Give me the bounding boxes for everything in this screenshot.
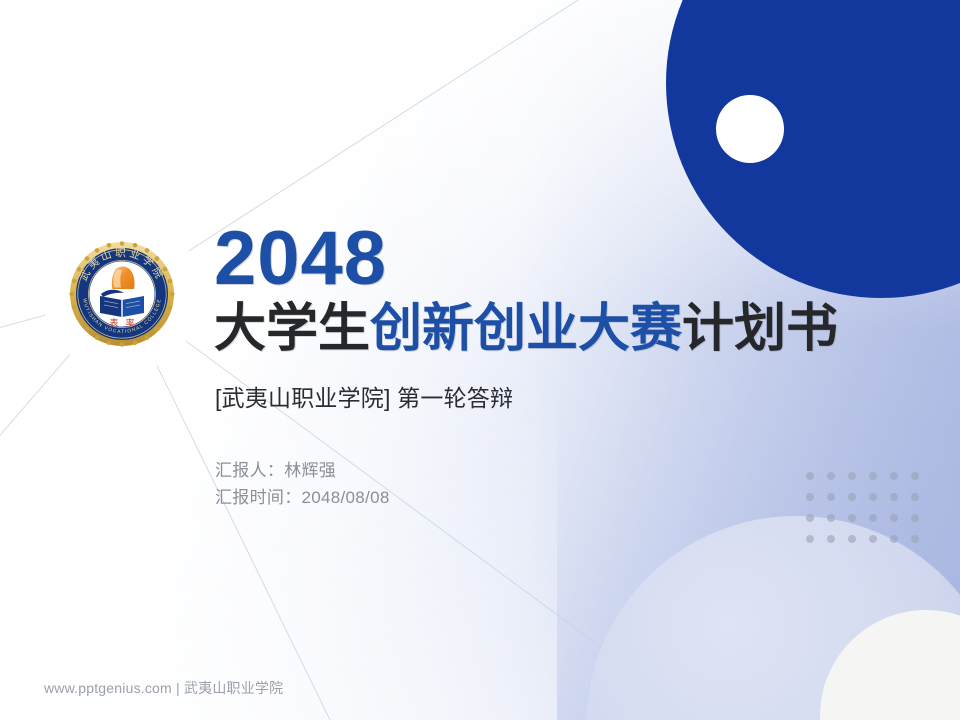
grid-dot xyxy=(806,514,814,522)
main-headline: 大学生创新创业大赛计划书 xyxy=(214,300,914,358)
grid-dot xyxy=(848,535,856,543)
grid-dot xyxy=(890,535,898,543)
presenter-line: 汇报人：林辉强 xyxy=(215,457,914,485)
grid-dot xyxy=(827,514,835,522)
presentation-meta: 汇报人：林辉强 汇报时间：2048/08/08 xyxy=(215,457,914,512)
headline-part-1: 大学生 xyxy=(214,300,370,358)
title-block: 2048 大学生创新创业大赛计划书 [武夷山职业学院] 第一轮答辩 汇报人：林辉… xyxy=(214,222,914,512)
grid-dot xyxy=(911,535,919,543)
grid-dot xyxy=(806,535,814,543)
college-seal-icon: 武夷山职业学院 WUYISHAN VOCATIONAL COLLEGE 表 率 xyxy=(68,240,176,348)
grid-dot xyxy=(848,514,856,522)
svg-text:表: 表 xyxy=(109,317,118,328)
grid-dot xyxy=(869,535,877,543)
grid-dot xyxy=(911,514,919,522)
grid-dot xyxy=(869,514,877,522)
white-accent-circle xyxy=(716,95,784,163)
headline-part-3: 计划书 xyxy=(682,300,838,358)
footer-text: www.pptgenius.com | 武夷山职业学院 xyxy=(44,678,283,698)
year-heading: 2048 xyxy=(214,222,914,296)
college-logo: 武夷山职业学院 WUYISHAN VOCATIONAL COLLEGE 表 率 xyxy=(46,218,198,370)
subtitle: [武夷山职业学院] 第一轮答辩 xyxy=(215,379,914,413)
headline-part-2: 创新创业大赛 xyxy=(370,300,682,358)
grid-dot xyxy=(827,535,835,543)
presentation-slide: 武夷山职业学院 WUYISHAN VOCATIONAL COLLEGE 表 率 … xyxy=(0,0,960,720)
grid-dot xyxy=(890,514,898,522)
date-line: 汇报时间：2048/08/08 xyxy=(215,484,914,512)
svg-text:率: 率 xyxy=(125,317,134,328)
